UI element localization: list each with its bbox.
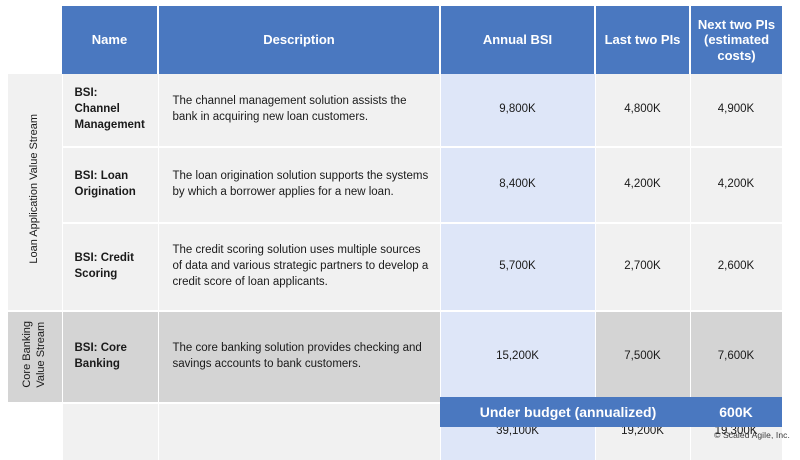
table-row[interactable]: BSI: Credit Scoring The credit scoring s… (8, 223, 782, 311)
row-annual-bsi: 5,700K (440, 223, 595, 311)
table-header: Name Description Annual BSI Last two PIs… (8, 6, 782, 74)
row-last-two-pis: 4,200K (595, 147, 690, 223)
under-budget-label: Under budget (annualized) (440, 404, 690, 420)
header-name[interactable]: Name (62, 6, 158, 74)
slide-canvas: Name Description Annual BSI Last two PIs… (0, 0, 800, 448)
row-description: The channel management solution assists … (158, 74, 440, 147)
header-next-two-pis[interactable]: Next two PIs (estimated costs) (690, 6, 782, 74)
row-last-two-pis: 2,700K (595, 223, 690, 311)
row-name: BSI: Core Banking (62, 311, 158, 403)
copyright-notice: © Scaled Agile, Inc. (714, 430, 790, 440)
header-description[interactable]: Description (158, 6, 440, 74)
row-name: BSI: Credit Scoring (62, 223, 158, 311)
row-annual-bsi: 15,200K (440, 311, 595, 403)
row-next-two-pis: 2,600K (690, 223, 782, 311)
under-budget-summary-bar: Under budget (annualized) 600K (440, 397, 782, 427)
bsi-cost-table-wrapper: Name Description Annual BSI Last two PIs… (8, 6, 782, 460)
value-stream-label-text: Core Banking Value Stream (21, 321, 49, 388)
row-description: The core banking solution provides check… (158, 311, 440, 403)
row-name: BSI: Loan Origination (62, 147, 158, 223)
value-stream-label-core-banking: Core Banking Value Stream (8, 311, 62, 403)
row-next-two-pis: 4,900K (690, 74, 782, 147)
under-budget-value: 600K (690, 404, 782, 420)
table-row[interactable]: Core Banking Value Stream BSI: Core Bank… (8, 311, 782, 403)
header-row: Name Description Annual BSI Last two PIs… (8, 6, 782, 74)
bsi-cost-table: Name Description Annual BSI Last two PIs… (8, 6, 783, 460)
value-stream-label-loan-application: Loan Application Value Stream (8, 74, 62, 311)
value-stream-label-text: Loan Application Value Stream (28, 114, 42, 264)
row-name: BSI: Channel Management (62, 74, 158, 147)
row-description: The credit scoring solution uses multipl… (158, 223, 440, 311)
header-value-stream-spacer (8, 6, 62, 74)
row-annual-bsi: 8,400K (440, 147, 595, 223)
row-next-two-pis: 7,600K (690, 311, 782, 403)
totals-value-stream-spacer (8, 403, 62, 460)
row-next-two-pis: 4,200K (690, 147, 782, 223)
row-last-two-pis: 7,500K (595, 311, 690, 403)
header-last-two-pis[interactable]: Last two PIs (595, 6, 690, 74)
row-description: The loan origination solution supports t… (158, 147, 440, 223)
totals-name (62, 403, 158, 460)
row-last-two-pis: 4,800K (595, 74, 690, 147)
row-annual-bsi: 9,800K (440, 74, 595, 147)
table-row[interactable]: BSI: Loan Origination The loan originati… (8, 147, 782, 223)
header-annual-bsi[interactable]: Annual BSI (440, 6, 595, 74)
totals-description (158, 403, 440, 460)
table-row[interactable]: Loan Application Value Stream BSI: Chann… (8, 74, 782, 147)
